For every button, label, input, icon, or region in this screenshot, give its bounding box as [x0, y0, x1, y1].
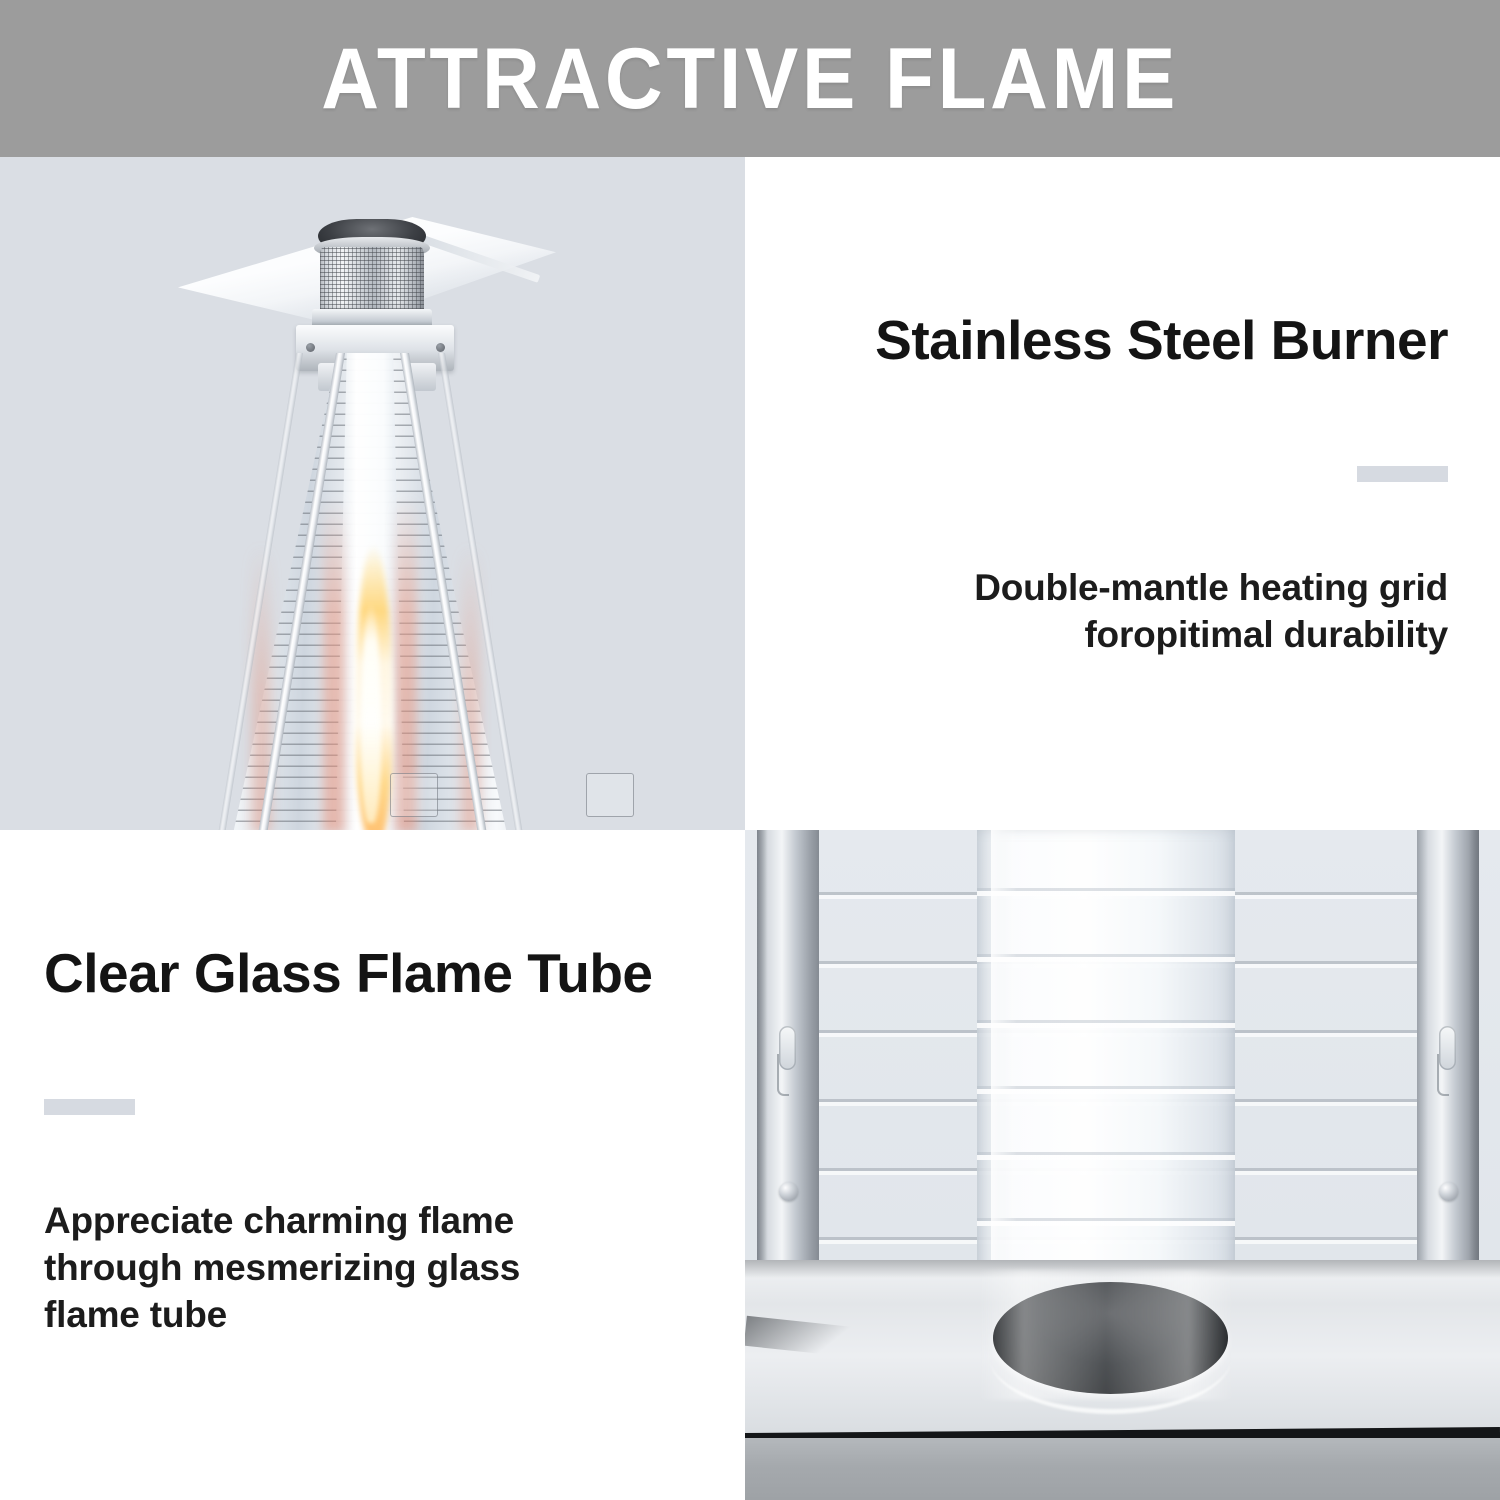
- hook-icon: [777, 1054, 789, 1096]
- feature-text-block-burner: Stainless Steel Burner Double-mantle hea…: [875, 312, 1448, 658]
- stainless-steel-burner-panel: Stainless Steel Burner Double-mantle hea…: [745, 157, 1500, 830]
- pyramid-heater-flame-photo: [0, 157, 745, 830]
- wire-clip-icon: [390, 773, 438, 817]
- burner-base-closeup-photo: [745, 830, 1500, 1500]
- divider-bar-tube: [44, 1099, 135, 1115]
- header-banner: ATTRACTIVE FLAME: [0, 0, 1500, 157]
- feature-heading-tube: Clear Glass Flame Tube: [44, 945, 653, 1003]
- feature-body-line: through mesmerizing glass: [44, 1244, 653, 1291]
- base-lower-band-icon: [745, 1438, 1500, 1500]
- page-title: ATTRACTIVE FLAME: [321, 36, 1179, 122]
- rivet-icon: [1439, 1182, 1458, 1201]
- hook-icon: [1437, 1054, 1449, 1096]
- feature-heading-burner: Stainless Steel Burner: [875, 312, 1448, 370]
- glass-tube-icon: [977, 830, 1235, 1278]
- base-illustration: [745, 830, 1500, 1500]
- feature-body-burner: Double-mantle heating grid foropitimal d…: [875, 564, 1448, 659]
- heater-illustration: [0, 157, 745, 830]
- bolt-icon: [306, 343, 315, 352]
- infographic-page: ATTRACTIVE FLAME: [0, 0, 1500, 1500]
- glass-flame-tube-icon: [180, 353, 560, 830]
- feature-body-line: Appreciate charming flame: [44, 1197, 653, 1244]
- feature-body-line: flame tube: [44, 1291, 653, 1338]
- rivet-icon: [779, 1182, 798, 1201]
- feature-text-block-tube: Clear Glass Flame Tube Appreciate charmi…: [44, 945, 653, 1339]
- bolt-icon: [436, 343, 445, 352]
- feature-body-line: Double-mantle heating grid: [875, 564, 1448, 611]
- wire-clip-icon: [586, 773, 634, 817]
- feature-body-tube: Appreciate charming flame through mesmer…: [44, 1197, 653, 1339]
- feature-body-line: foropitimal durability: [875, 611, 1448, 658]
- divider-bar-burner: [1357, 466, 1448, 482]
- stainless-mesh-burner-icon: [320, 247, 424, 317]
- clear-glass-flame-tube-panel: Clear Glass Flame Tube Appreciate charmi…: [0, 830, 745, 1500]
